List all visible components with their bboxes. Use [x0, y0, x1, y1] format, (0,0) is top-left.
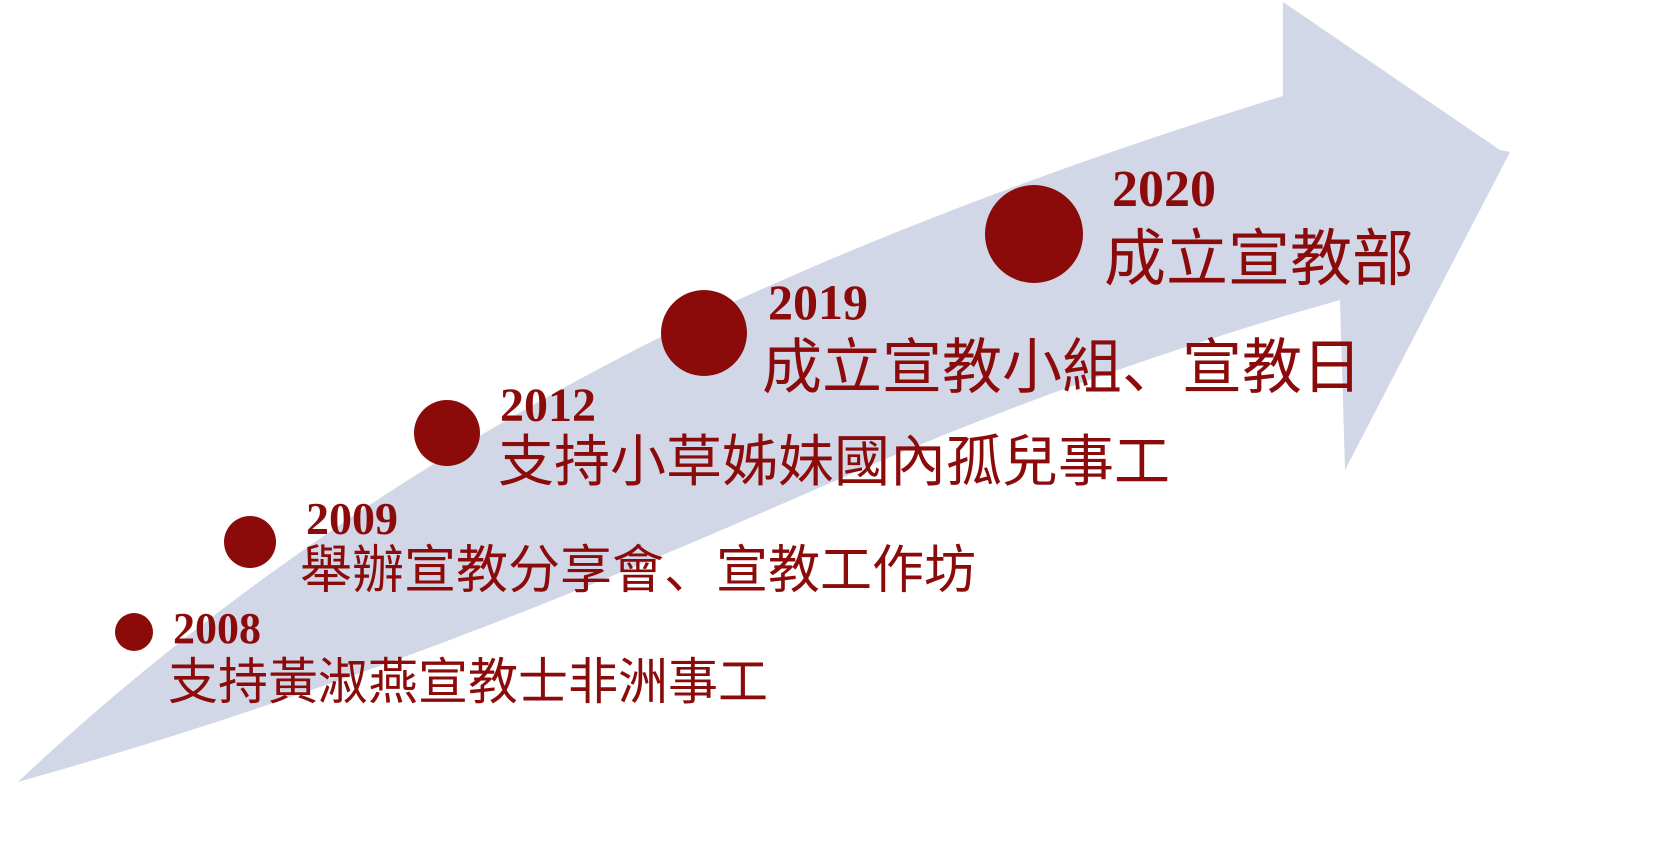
timeline-dot-2019 — [661, 290, 747, 376]
timeline-dot-2012 — [414, 400, 480, 466]
milestone-year-label: 2019 — [768, 277, 868, 327]
timeline-dot-2009 — [224, 516, 276, 568]
milestone-description: 成立宣教部 — [1104, 228, 1414, 290]
milestone-description: 舉辦宣教分享會、宣教工作坊 — [300, 545, 976, 597]
milestone-description: 成立宣教小組、宣教日 — [762, 338, 1362, 398]
timeline-diagram: 2008 支持黃淑燕宣教士非洲事工 2009 舉辦宣教分享會、宣教工作坊 201… — [0, 0, 1671, 856]
milestone-year-label: 2009 — [306, 496, 398, 542]
timeline-dot-2020 — [985, 185, 1083, 283]
milestone-description: 支持小草姊妹國內孤兒事工 — [498, 435, 1170, 491]
milestone-description: 支持黃淑燕宣教士非洲事工 — [168, 657, 768, 707]
milestone-year-label: 2008 — [173, 607, 261, 651]
milestone-year-label: 2012 — [500, 382, 596, 430]
timeline-dot-2008 — [115, 613, 153, 651]
curved-up-right-arrow — [0, 0, 1671, 856]
milestone-year-label: 2020 — [1112, 164, 1216, 216]
